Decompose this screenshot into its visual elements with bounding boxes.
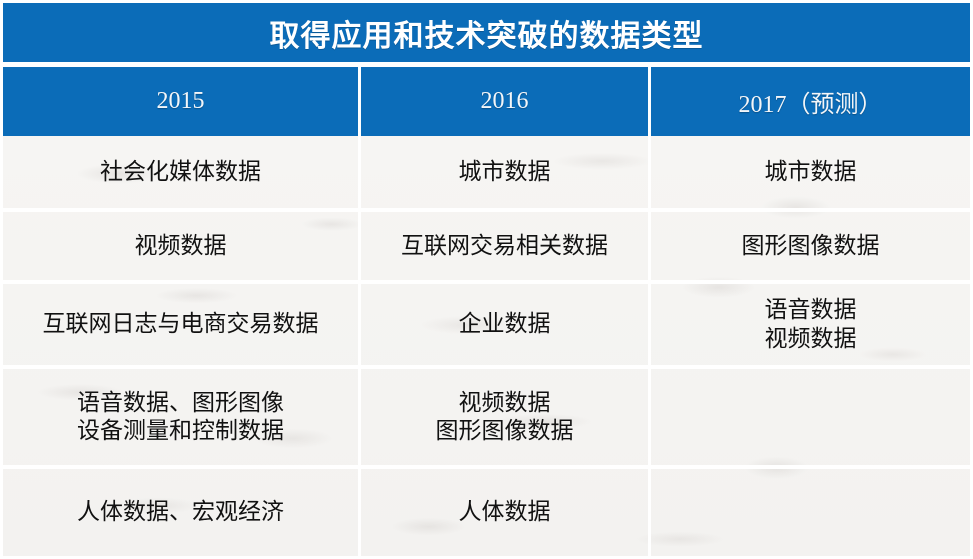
- cell-2017-row1: 城市数据: [651, 136, 970, 208]
- column-header-2017-forecast: 2017（预测）: [651, 67, 970, 136]
- table-row: 社会化媒体数据 城市数据 城市数据: [3, 136, 970, 208]
- column-header-2016: 2016: [361, 67, 648, 136]
- table-row: 人体数据、宏观经济 人体数据: [3, 469, 970, 556]
- column-header-label: 2015: [157, 88, 205, 115]
- cell-2016-row3: 企业数据: [361, 284, 648, 365]
- table-row: 视频数据 互联网交易相关数据 图形图像数据: [3, 212, 970, 280]
- column-header-label: 2017（预测）: [739, 84, 883, 119]
- table-row: 语音数据、图形图像 设备测量和控制数据 视频数据 图形图像数据: [3, 369, 970, 465]
- cell-2016-row4: 视频数据 图形图像数据: [361, 369, 648, 465]
- cell-2015-row3: 互联网日志与电商交易数据: [3, 284, 358, 365]
- cell-2016-row5: 人体数据: [361, 469, 648, 556]
- cell-2016-row2: 互联网交易相关数据: [361, 212, 648, 280]
- column-separator: [648, 136, 651, 556]
- cell-2015-row2: 视频数据: [3, 212, 358, 280]
- slide-root: 取得应用和技术突破的数据类型 2015 2016 2017（预测） 社会化媒体数…: [0, 0, 973, 559]
- cell-2017-row4: [651, 369, 970, 465]
- cell-2017-row5: [651, 469, 970, 556]
- cell-2015-row1: 社会化媒体数据: [3, 136, 358, 208]
- page-title: 取得应用和技术突破的数据类型: [270, 11, 704, 55]
- column-header-label: 2016: [481, 88, 529, 115]
- table-header-row: 2015 2016 2017（预测）: [3, 67, 970, 136]
- column-separator: [358, 136, 361, 556]
- column-header-2015: 2015: [3, 67, 358, 136]
- table-row: 互联网日志与电商交易数据 企业数据 语音数据 视频数据: [3, 284, 970, 365]
- cell-2015-row5: 人体数据、宏观经济: [3, 469, 358, 556]
- cell-2016-row1: 城市数据: [361, 136, 648, 208]
- table-body: 社会化媒体数据 城市数据 城市数据 视频数据 互联网交易相关数据 图形图像数据 …: [3, 136, 970, 556]
- cell-2017-row2: 图形图像数据: [651, 212, 970, 280]
- cell-2017-row3: 语音数据 视频数据: [651, 284, 970, 365]
- slide-title-bar: 取得应用和技术突破的数据类型: [3, 3, 970, 62]
- cell-2015-row4: 语音数据、图形图像 设备测量和控制数据: [3, 369, 358, 465]
